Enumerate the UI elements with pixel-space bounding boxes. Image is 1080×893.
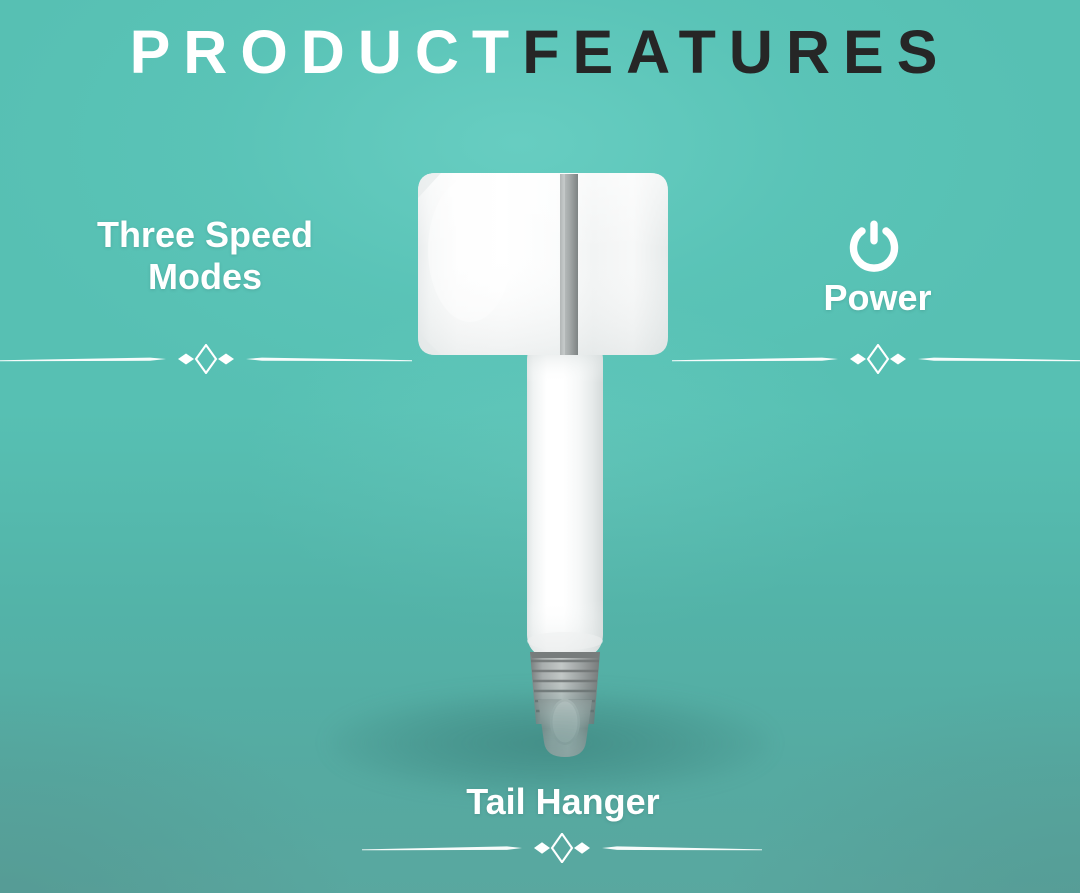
title-word-product: PRODUCT bbox=[130, 18, 523, 86]
background-corner-shade-right bbox=[0, 0, 1080, 893]
feature-label-tail-hanger: Tail Hanger bbox=[363, 781, 763, 823]
ornament-divider-bottom bbox=[362, 833, 762, 863]
feature-label-power: Power bbox=[735, 277, 1020, 319]
ornament-divider-left bbox=[0, 344, 412, 374]
title-word-features: FEATURES bbox=[522, 18, 950, 86]
power-icon bbox=[847, 220, 901, 276]
page-title: PRODUCTFEATURES bbox=[0, 22, 1080, 83]
feature-label-three-speed-modes: Three Speed Modes bbox=[45, 214, 365, 298]
ornament-divider-right bbox=[672, 344, 1080, 374]
product-features-graphic: PRODUCTFEATURES bbox=[0, 0, 1080, 893]
